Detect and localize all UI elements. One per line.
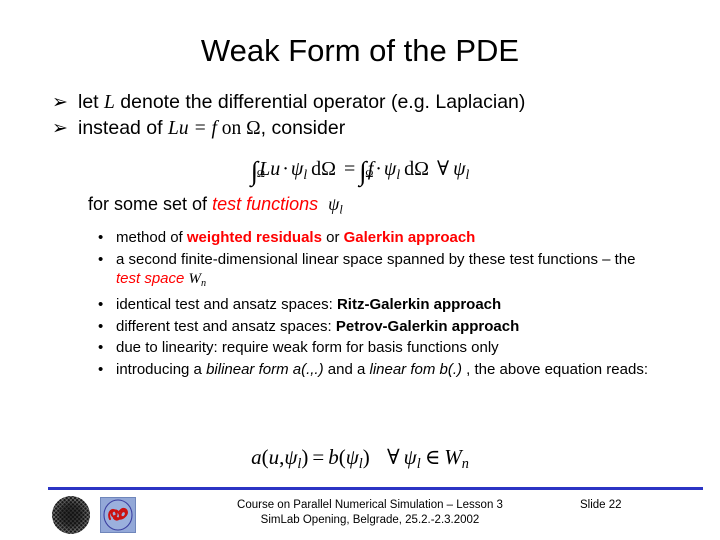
psi-symbol-eq2-forall: ψ — [404, 445, 417, 469]
psi-symbol-lhs: ψ — [291, 158, 303, 180]
integral-subscript-omega: Ω — [365, 160, 373, 188]
slide-canvas: Weak Form of the PDE ➢ let L denote the … — [0, 0, 720, 540]
text-segment: method of — [116, 229, 187, 246]
d-omega-rhs: dΩ — [400, 158, 433, 180]
bullet-text-mid: on — [217, 118, 246, 139]
equals-sign-eq2: = — [308, 445, 328, 469]
psi-subscript-caption: l — [339, 202, 342, 216]
integral-subscript-omega: Ω — [257, 160, 265, 188]
dot-operator: · — [373, 158, 384, 180]
bullet-text-pre: let — [78, 91, 104, 113]
test-space-subscript-n: n — [201, 278, 206, 289]
forall-symbol-eq2: ∀ — [383, 445, 404, 469]
footer-logos — [52, 496, 152, 536]
integral-sign-rhs: ∫Ω — [359, 157, 366, 185]
element-of-symbol: ∈ — [421, 445, 445, 469]
weak-form-integral-equation: ∫ΩLu·ψldΩ=∫Ωf·ψldΩ∀ψl — [0, 155, 720, 189]
test-functions-caption: for some set of test functions ψl — [88, 192, 343, 221]
bullet-text-post: denote the differential operator (e.g. L… — [115, 91, 526, 113]
operator-symbol-L: L — [104, 92, 115, 113]
footer-line-2: SimLab Opening, Belgrade, 25.2.-2.3.2002 — [160, 513, 580, 528]
psi-symbol-rhs: ψ — [384, 158, 396, 180]
bullet-text-post: , consider — [261, 117, 346, 139]
text-segment: different test and ansatz spaces: — [116, 318, 336, 335]
dot-bullet-icon: • — [98, 338, 103, 358]
test-space-symbol-W: W — [189, 271, 202, 287]
integral-sign-lhs: ∫Ω — [251, 157, 258, 185]
dot-bullet-icon: • — [98, 250, 103, 270]
list-item-weighted-residuals: • method of weighted residuals or Galerk… — [0, 228, 720, 248]
caption-pre: for some set of — [88, 194, 212, 214]
simlab-knot-logo-icon — [100, 497, 136, 533]
paren-open: ( — [339, 445, 346, 469]
bilinear-form-equation: a(u,ψl)=b(ψl) ∀ψl∈Wn — [0, 443, 720, 478]
list-item-petrov-galerkin: • different test and ansatz spaces: Petr… — [0, 317, 720, 337]
slide-body: ➢ let L denote the differential operator… — [0, 90, 720, 142]
psi-symbol-caption: ψ — [328, 194, 339, 214]
dot-bullet-icon: • — [98, 317, 103, 337]
psi-subscript-forall: l — [466, 167, 470, 182]
test-space-subscript-n-eq2: n — [462, 456, 469, 472]
bullet-text-pre: instead of — [78, 117, 168, 139]
test-space-W-eq2: W — [444, 445, 462, 469]
dot-bullet-icon: • — [98, 360, 103, 380]
solution-u: u — [269, 445, 280, 469]
psi-symbol-eq2-b: ψ — [346, 445, 359, 469]
text-segment-test-space: test space — [116, 270, 184, 287]
psi-symbol-forall: ψ — [453, 158, 465, 180]
paren-close: ) — [363, 445, 370, 469]
paren-open: ( — [262, 445, 269, 469]
list-item-ritz-galerkin: • identical test and ansatz spaces: Ritz… — [0, 295, 720, 315]
dot-bullet-icon: • — [98, 295, 103, 315]
dot-operator: · — [280, 158, 291, 180]
sphere-particle-logo-icon — [52, 496, 90, 534]
footer-line-1: Course on Parallel Numerical Simulation … — [160, 498, 580, 513]
slide-number: Slide 22 — [580, 498, 700, 513]
list-item-bilinear-form: • introducing a bilinear form a(.,.) and… — [0, 360, 720, 380]
d-omega-lhs: dΩ — [307, 158, 340, 180]
text-segment: identical test and ansatz spaces: — [116, 296, 337, 313]
forall-symbol: ∀ — [433, 158, 453, 180]
text-segment-ritz-galerkin: Ritz-Galerkin approach — [337, 296, 501, 313]
text-segment: a second finite-dimensional linear space… — [116, 251, 636, 268]
page-title: Weak Form of the PDE — [0, 33, 720, 69]
sub-bullet-list: • method of weighted residuals or Galerk… — [0, 228, 720, 381]
text-segment: , the above equation reads: — [462, 361, 648, 378]
list-item-test-space: • a second finite-dimensional linear spa… — [0, 250, 720, 294]
bilinear-a: a — [251, 445, 262, 469]
text-segment: and a — [324, 361, 370, 378]
domain-omega-symbol: Ω — [246, 118, 261, 139]
footer-divider — [48, 487, 703, 490]
text-segment: due to linearity: require weak form for … — [116, 339, 499, 356]
text-segment: introducing a — [116, 361, 206, 378]
footer-course-info: Course on Parallel Numerical Simulation … — [160, 498, 580, 528]
dot-bullet-icon: • — [98, 228, 103, 248]
bullet-level1-let-L: ➢ let L denote the differential operator… — [0, 90, 720, 115]
equals-sign: = — [340, 158, 359, 180]
text-segment: or — [322, 229, 344, 246]
bullet-level1-instead-of: ➢ instead of Lu = f on Ω, consider — [0, 116, 720, 141]
arrowhead-bullet-icon: ➢ — [52, 116, 68, 141]
text-segment-petrov-galerkin: Petrov-Galerkin approach — [336, 318, 519, 335]
arrowhead-bullet-icon: ➢ — [52, 90, 68, 115]
text-segment-bilinear-form: bilinear form a(.,.) — [206, 361, 324, 378]
text-segment-weighted-residuals: weighted residuals — [187, 229, 322, 246]
psi-symbol-eq2-a: ψ — [284, 445, 297, 469]
linear-b: b — [328, 445, 339, 469]
text-segment-linear-form: linear fom b(.) — [369, 361, 462, 378]
strong-form-equation: Lu = f — [168, 118, 217, 139]
test-functions-emphasis: test functions — [212, 194, 318, 214]
text-segment-galerkin-approach: Galerkin approach — [344, 229, 476, 246]
list-item-linearity: • due to linearity: require weak form fo… — [0, 338, 720, 358]
